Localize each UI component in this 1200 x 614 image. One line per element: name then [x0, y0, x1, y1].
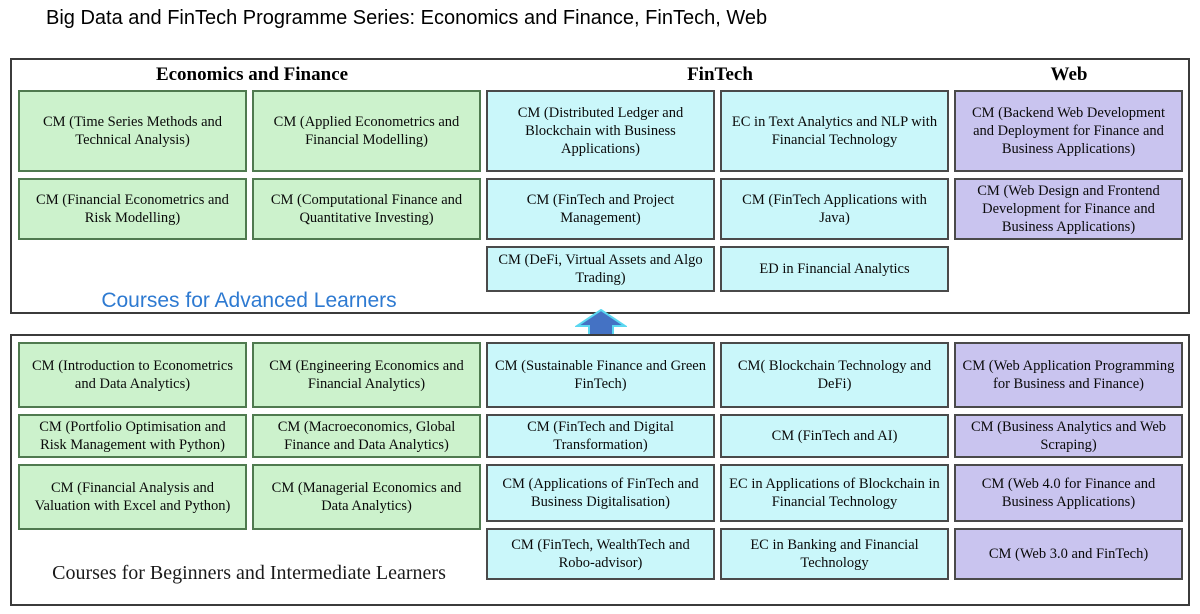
course-box[interactable]: CM( Blockchain Technology and DeFi): [720, 342, 949, 408]
course-box[interactable]: CM (DeFi, Virtual Assets and Algo Tradin…: [486, 246, 715, 292]
course-box[interactable]: CM (Web Application Programming for Busi…: [954, 342, 1183, 408]
course-box[interactable]: CM (Web 4.0 for Finance and Business App…: [954, 464, 1183, 522]
advanced-learners-caption: Courses for Advanced Learners: [18, 286, 480, 316]
course-box[interactable]: CM (Sustainable Finance and Green FinTec…: [486, 342, 715, 408]
beginner-column-fintech-a: CM (Sustainable Finance and Green FinTec…: [486, 342, 715, 586]
advanced-column-fintech-a: CM (Distributed Ledger and Blockchain wi…: [486, 90, 715, 298]
advanced-column-web: CM (Backend Web Development and Deployme…: [954, 90, 1183, 246]
column-header-economics-finance: Economics and Finance: [18, 62, 486, 88]
column-header-web: Web: [954, 62, 1184, 88]
course-box[interactable]: EC in Banking and Financial Technology: [720, 528, 949, 580]
course-box[interactable]: CM (Web 3.0 and FinTech): [954, 528, 1183, 580]
course-box[interactable]: CM (FinTech and Project Management): [486, 178, 715, 240]
course-box[interactable]: CM (FinTech and Digital Transformation): [486, 414, 715, 458]
course-box[interactable]: CM (FinTech Applications with Java): [720, 178, 949, 240]
course-box[interactable]: CM (Business Analytics and Web Scraping): [954, 414, 1183, 458]
beginner-learners-caption: Courses for Beginners and Intermediate L…: [18, 558, 480, 588]
course-box[interactable]: CM (Managerial Economics and Data Analyt…: [252, 464, 481, 530]
beginner-column-economics-a: CM (Introduction to Econometrics and Dat…: [18, 342, 247, 536]
course-box[interactable]: CM (FinTech and AI): [720, 414, 949, 458]
course-box[interactable]: CM (Financial Analysis and Valuation wit…: [18, 464, 247, 530]
course-box[interactable]: CM (Applied Econometrics and Financial M…: [252, 90, 481, 172]
beginner-column-fintech-b: CM( Blockchain Technology and DeFi) CM (…: [720, 342, 949, 586]
course-box[interactable]: CM (Financial Econometrics and Risk Mode…: [18, 178, 247, 240]
course-box[interactable]: CM (Macroeconomics, Global Finance and D…: [252, 414, 481, 458]
column-header-fintech: FinTech: [486, 62, 954, 88]
course-box[interactable]: CM (Introduction to Econometrics and Dat…: [18, 342, 247, 408]
course-box[interactable]: CM (Backend Web Development and Deployme…: [954, 90, 1183, 172]
page-title: Big Data and FinTech Programme Series: E…: [46, 4, 1186, 32]
beginner-column-web: CM (Web Application Programming for Busi…: [954, 342, 1183, 586]
course-box[interactable]: CM (Time Series Methods and Technical An…: [18, 90, 247, 172]
course-box[interactable]: CM (Applications of FinTech and Business…: [486, 464, 715, 522]
course-box[interactable]: CM (FinTech, WealthTech and Robo-advisor…: [486, 528, 715, 580]
advanced-column-economics-b: CM (Applied Econometrics and Financial M…: [252, 90, 481, 246]
course-box[interactable]: ED in Financial Analytics: [720, 246, 949, 292]
column-header-row: Economics and Finance FinTech Web: [12, 60, 1188, 90]
course-box[interactable]: CM (Portfolio Optimisation and Risk Mana…: [18, 414, 247, 458]
course-box[interactable]: EC in Text Analytics and NLP with Financ…: [720, 90, 949, 172]
advanced-learners-panel: Economics and Finance FinTech Web CM (Ti…: [10, 58, 1190, 314]
advanced-column-fintech-b: EC in Text Analytics and NLP with Financ…: [720, 90, 949, 298]
course-box[interactable]: CM (Web Design and Frontend Development …: [954, 178, 1183, 240]
course-box[interactable]: EC in Applications of Blockchain in Fina…: [720, 464, 949, 522]
course-box[interactable]: CM (Distributed Ledger and Blockchain wi…: [486, 90, 715, 172]
beginner-intermediate-learners-panel: CM (Introduction to Econometrics and Dat…: [10, 334, 1190, 606]
course-box[interactable]: CM (Computational Finance and Quantitati…: [252, 178, 481, 240]
course-box[interactable]: CM (Engineering Economics and Financial …: [252, 342, 481, 408]
beginner-column-economics-b: CM (Engineering Economics and Financial …: [252, 342, 481, 536]
advanced-column-economics-a: CM (Time Series Methods and Technical An…: [18, 90, 247, 246]
